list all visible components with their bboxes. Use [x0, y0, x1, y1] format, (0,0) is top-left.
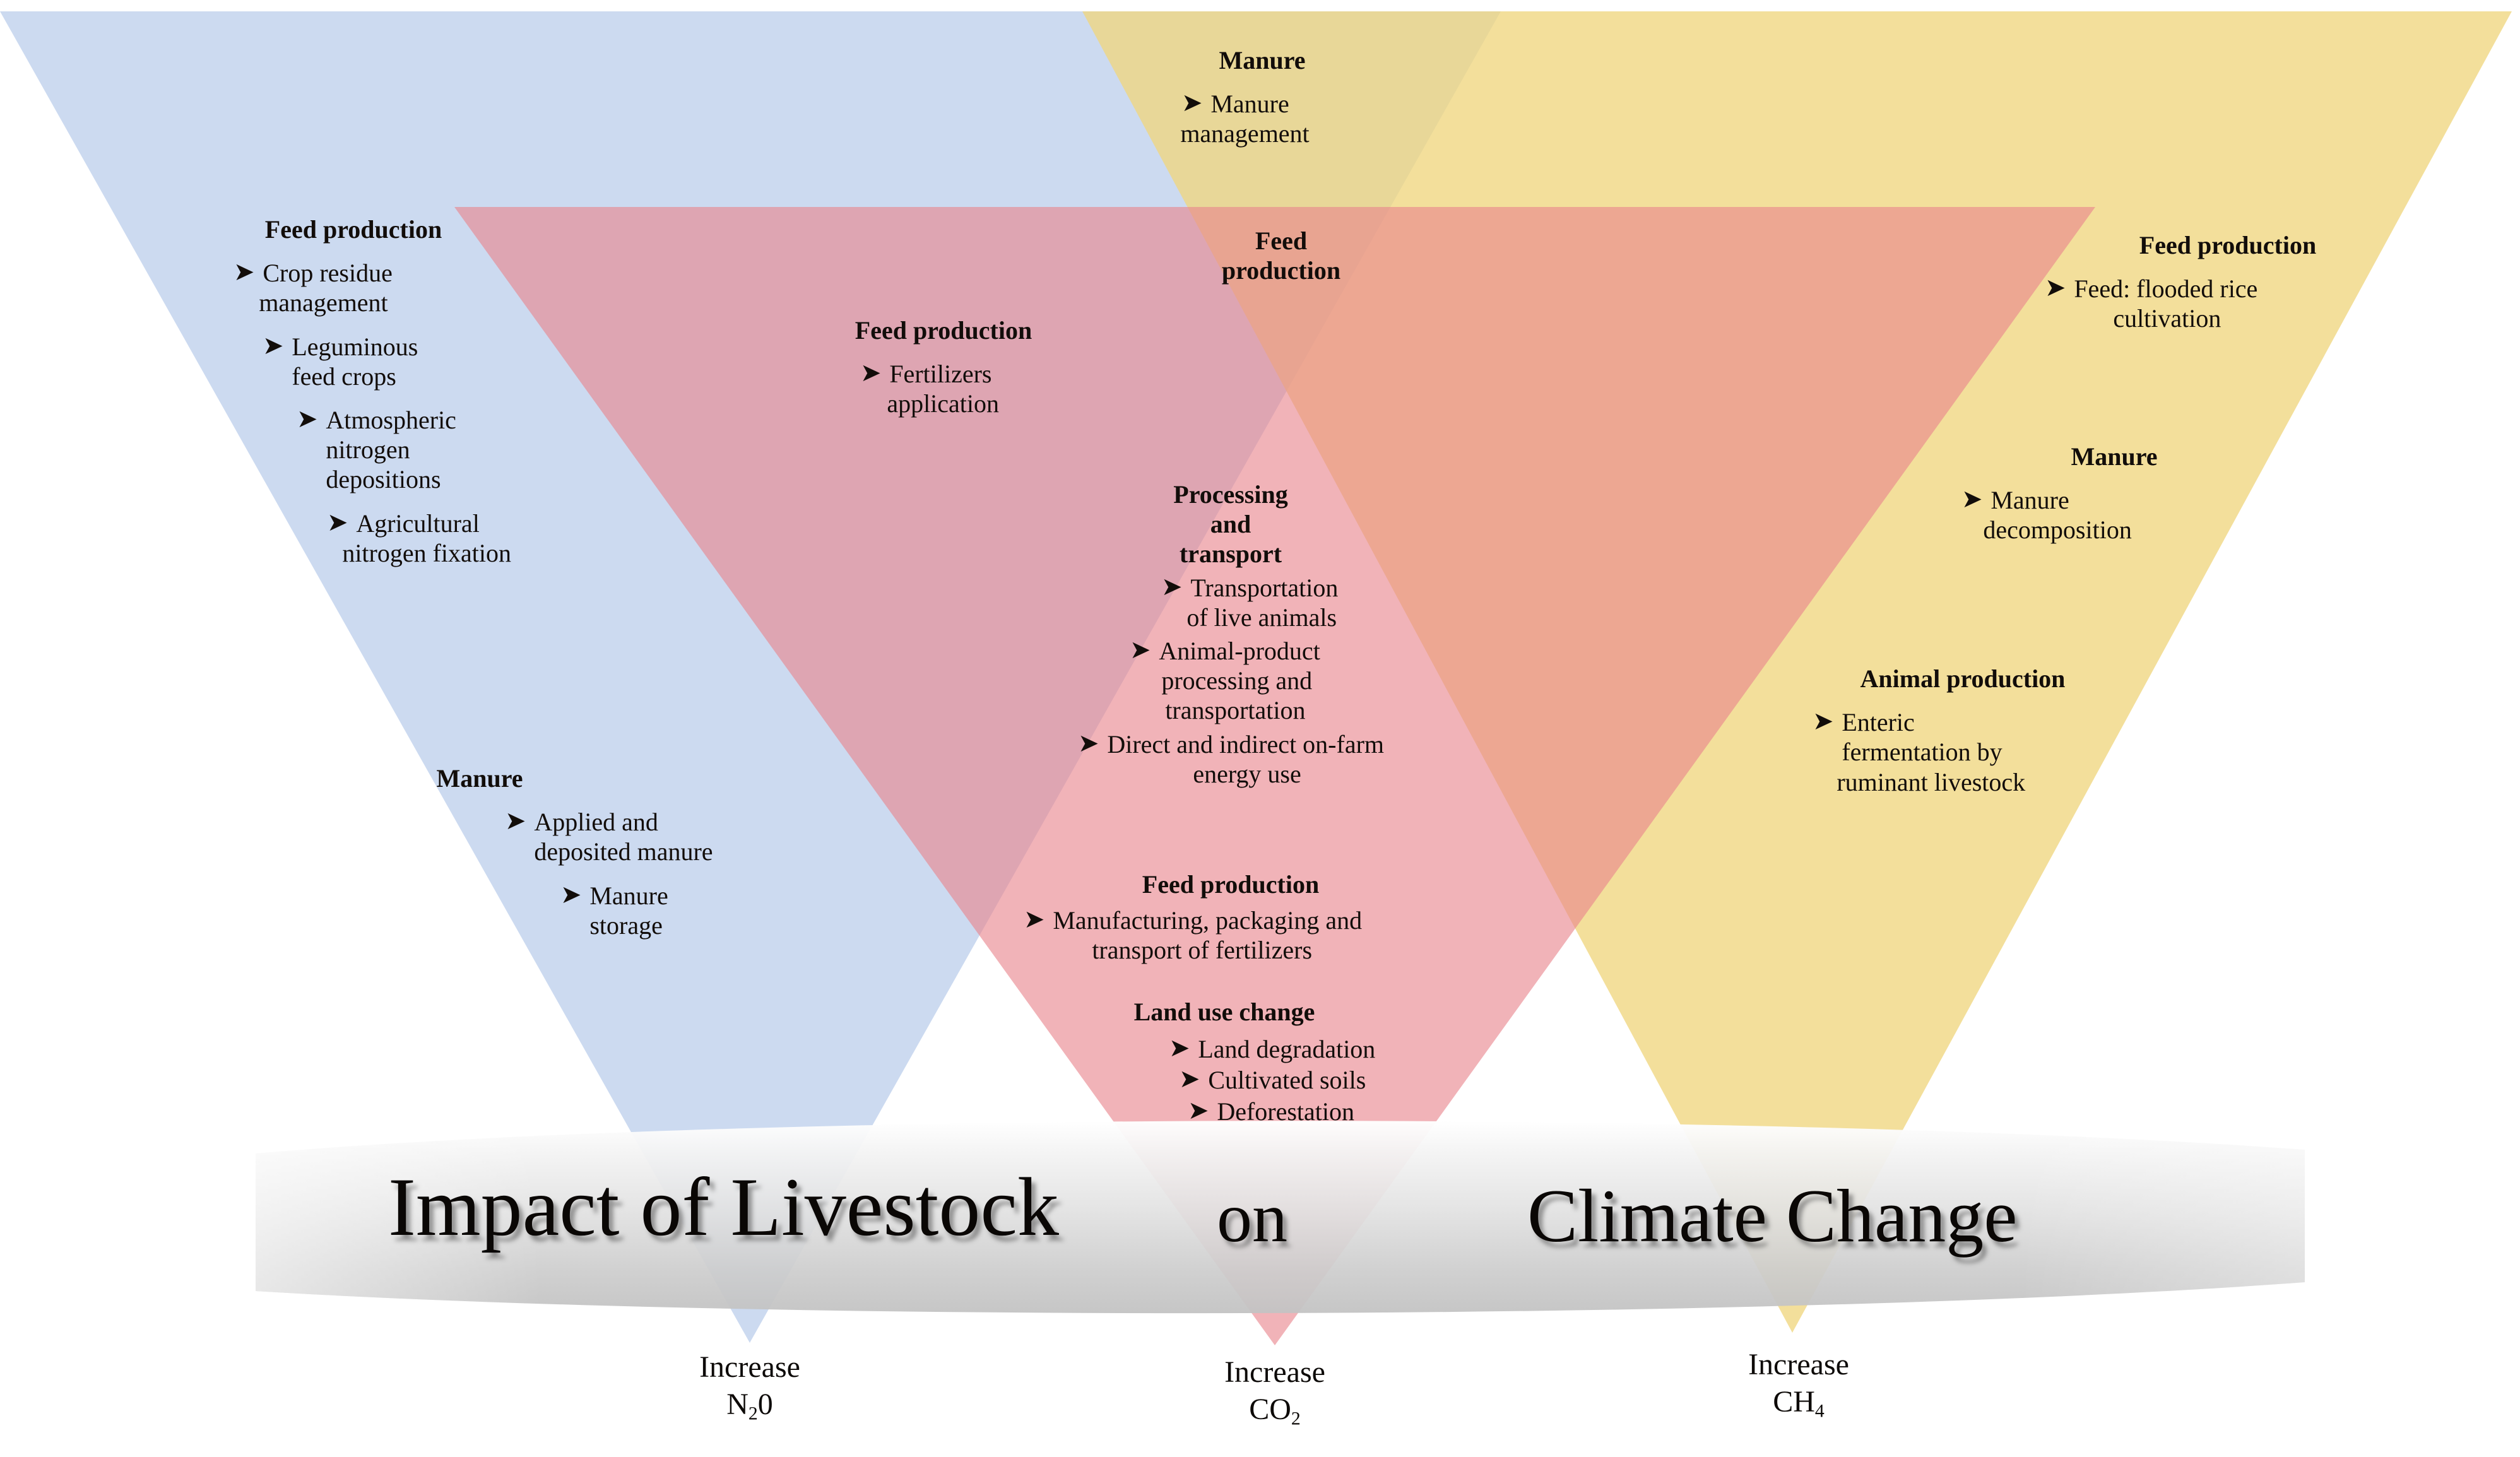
group-feed-production-co2-fertilizers: Feed production ➤ Fertilizers applicatio… — [792, 316, 1095, 419]
list-item-line: Animal-product — [1159, 637, 1320, 665]
list-item-line: Land degradation — [1198, 1034, 1452, 1064]
group-manure-ch4-top: Manure ➤ Manure management — [1142, 45, 1382, 149]
group-heading: Manure — [379, 764, 581, 793]
group-heading-line: and — [1136, 509, 1325, 539]
group-heading: Animal production — [1786, 664, 2139, 693]
group-heading: Feed production — [792, 316, 1095, 345]
group-manure-ch4: Manure ➤ Manure decomposition — [1925, 442, 2266, 545]
list-item: ➤ Cultivated soils — [1048, 1065, 1452, 1095]
list-item-line: Applied and — [534, 808, 658, 836]
caption-formula: CO2 — [1174, 1391, 1376, 1430]
list-item-line: depositions — [326, 465, 441, 493]
arrow-bullet-icon: ➤ — [1130, 637, 1151, 663]
list-item: ➤ Manure decomposition — [1925, 485, 2266, 545]
list-item: ➤ Manure storage — [379, 881, 732, 940]
list-item-line: management — [259, 288, 387, 317]
group-heading: Feed production — [189, 215, 518, 244]
list-item-line: processing and — [1161, 666, 1312, 695]
list-item-line: cultivation — [2113, 304, 2221, 333]
list-item-line: fermentation by — [1842, 738, 2002, 766]
figure-canvas: Impact of Livestock on Climate Change Fe… — [0, 0, 2520, 1457]
list-item-line: Feed: flooded rice — [2074, 274, 2257, 303]
group-heading: Land use change — [1048, 997, 1401, 1027]
group-heading: Manure — [1988, 442, 2240, 471]
arrow-bullet-icon: ➤ — [1078, 731, 1099, 756]
arrow-bullet-icon: ➤ — [1181, 90, 1203, 115]
group-manure-n2o: Manure ➤ Applied and deposited manure ➤ … — [379, 764, 732, 940]
group-heading-feed-production-center: Feed production — [1186, 226, 1376, 285]
arrow-bullet-icon: ➤ — [2045, 275, 2066, 300]
arrow-bullet-icon: ➤ — [560, 882, 582, 907]
list-item-line: Deforestation — [1217, 1097, 1452, 1126]
list-item-line: Crop residue — [263, 259, 393, 287]
list-item: ➤ Land degradation — [1048, 1034, 1452, 1064]
list-item-line: deposited manure — [534, 837, 713, 866]
group-feed-production-ch4: Feed production ➤ Feed: flooded rice cul… — [2007, 230, 2360, 334]
list-item-line: Manufacturing, packaging and — [1053, 906, 1362, 935]
arrow-bullet-icon: ➤ — [1161, 574, 1183, 599]
group-heading: Feed production — [1010, 870, 1452, 899]
arrow-bullet-icon: ➤ — [1024, 907, 1045, 932]
list-item-line: of live animals — [1186, 603, 1337, 632]
title-part-on: on — [1217, 1177, 1287, 1259]
arrow-bullet-icon: ➤ — [297, 406, 318, 432]
group-heading: Manure — [1142, 45, 1382, 75]
arrow-bullet-icon: ➤ — [860, 360, 882, 386]
list-item: ➤ Transportation of live animals — [1016, 573, 1458, 632]
list-item-line: Agricultural — [356, 509, 480, 538]
list-item-line: energy use — [1193, 759, 1301, 789]
arrow-bullet-icon: ➤ — [263, 333, 284, 358]
list-item-line: Enteric — [1842, 708, 1915, 736]
list-item-line: Fertilizers — [889, 360, 991, 388]
list-item-line: Leguminous — [292, 333, 418, 361]
list-item-line: Manure — [1991, 486, 2069, 514]
arrow-bullet-icon: ➤ — [327, 510, 348, 535]
list-item: ➤ Fertilizers application — [792, 359, 1095, 418]
list-item-line: transport of fertilizers — [1092, 935, 1312, 965]
list-item: ➤ Deforestation — [1048, 1097, 1452, 1126]
list-item-line: nitrogen fixation — [342, 538, 511, 568]
list-item: ➤ Manufacturing, packaging and transport… — [1010, 905, 1489, 965]
list-item-line: management — [1180, 119, 1309, 148]
list-item: ➤ Crop residue management — [189, 258, 518, 317]
title-part-climate-change: Climate Change — [1527, 1172, 2017, 1259]
list-item-line: nitrogen — [326, 435, 410, 464]
arrow-bullet-icon: ➤ — [1179, 1066, 1200, 1092]
list-item: ➤ Direct and indirect on-farm energy use — [1016, 729, 1458, 789]
list-item: ➤ Atmospheric nitrogen depositions — [189, 405, 518, 495]
list-item: ➤ Manure management — [1142, 89, 1382, 148]
arrow-bullet-icon: ➤ — [1188, 1098, 1209, 1123]
group-feed-production-co2: Feed production ➤ Manufacturing, packagi… — [1010, 870, 1489, 965]
caption-line: Increase — [1698, 1347, 1900, 1384]
group-heading-line: production — [1186, 256, 1376, 285]
caption-increase-n2o: Increase N20 — [649, 1349, 851, 1425]
list-item-line: Manure storage — [589, 881, 732, 940]
list-item-line: Transportation — [1190, 574, 1338, 602]
list-item: ➤ Animal-product processing and transpor… — [1016, 636, 1458, 726]
group-processing-and-transport-co2: Processing and transport ➤ Transportatio… — [1016, 480, 1458, 789]
list-item-line: decomposition — [1983, 515, 2132, 545]
list-item: ➤ Leguminous feed crops — [189, 332, 518, 391]
group-heading-line: transport — [1136, 539, 1325, 569]
list-item-line: Cultivated soils — [1208, 1065, 1452, 1095]
list-item: ➤ Feed: flooded rice cultivation — [2007, 274, 2360, 333]
group-heading: Feed production — [2095, 230, 2360, 260]
arrow-bullet-icon: ➤ — [1813, 709, 1834, 734]
caption-increase-ch4: Increase CH4 — [1698, 1347, 1900, 1422]
arrow-bullet-icon: ➤ — [234, 259, 255, 285]
caption-formula: N20 — [649, 1386, 851, 1425]
caption-formula: CH4 — [1698, 1384, 1900, 1423]
list-item-line: Manure — [1210, 90, 1289, 118]
title-part-impact-of-livestock: Impact of Livestock — [388, 1159, 1059, 1255]
group-land-use-change-co2: Land use change ➤ Land degradation ➤ Cul… — [1048, 997, 1452, 1126]
caption-increase-co2: Increase CO2 — [1174, 1354, 1376, 1430]
list-item: ➤ Enteric fermentation by ruminant lives… — [1786, 707, 2190, 797]
list-item-line: ruminant livestock — [1837, 767, 2025, 797]
group-heading-line: Processing — [1136, 480, 1325, 509]
list-item-line: transportation — [1165, 695, 1305, 725]
list-item-line: Atmospheric — [326, 406, 456, 434]
arrow-bullet-icon: ➤ — [1961, 487, 1983, 512]
group-heading: Processing and transport — [1136, 480, 1325, 569]
caption-line: Increase — [1174, 1354, 1376, 1391]
list-item: ➤ Agricultural nitrogen fixation — [189, 509, 518, 568]
list-item-line: application — [887, 389, 999, 418]
list-item-line: feed crops — [292, 362, 396, 391]
group-heading-line: Feed — [1186, 226, 1376, 256]
list-item: ➤ Applied and deposited manure — [379, 807, 732, 866]
group-feed-production-n2o: Feed production ➤ Crop residue managemen… — [189, 215, 518, 568]
group-animal-production-ch4: Animal production ➤ Enteric fermentation… — [1786, 664, 2190, 797]
arrow-bullet-icon: ➤ — [505, 808, 526, 834]
caption-line: Increase — [649, 1349, 851, 1386]
arrow-bullet-icon: ➤ — [1169, 1035, 1190, 1061]
list-item-line: Direct and indirect on-farm — [1107, 730, 1384, 758]
